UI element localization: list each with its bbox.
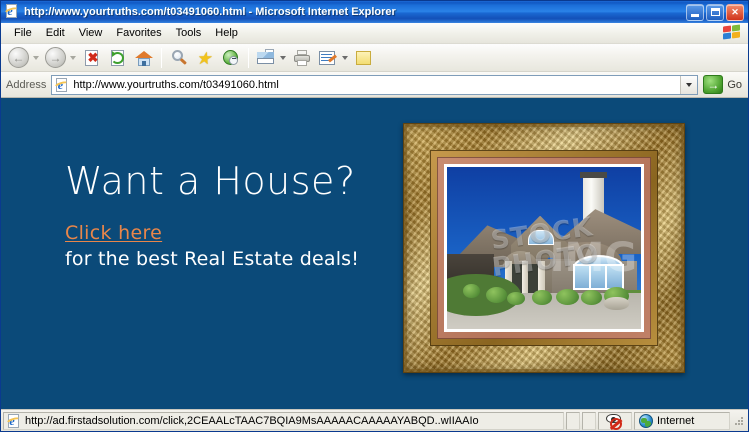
chevron-down-icon	[686, 83, 692, 87]
windows-flag-icon	[722, 24, 744, 42]
house-photograph: IMG STOCK PHOTO	[447, 167, 641, 329]
edit-page-icon	[318, 48, 338, 68]
photo-white-border: IMG STOCK PHOTO	[444, 164, 644, 332]
internet-explorer-icon: e	[54, 78, 69, 92]
browser-window: e http://www.yourtruths.com/t03491060.ht…	[0, 0, 749, 432]
toolbar-separator	[248, 48, 249, 68]
forward-button[interactable]: →	[42, 46, 69, 70]
page-viewport: Want a House? Click here for the best Re…	[1, 98, 748, 409]
forward-dropdown-chevron-icon[interactable]	[70, 56, 76, 60]
search-button[interactable]	[166, 46, 192, 70]
window-mullion	[605, 264, 607, 290]
address-input-value: http://www.yourtruths.com/t03491060.html	[73, 79, 680, 91]
porch-column	[522, 261, 529, 297]
menu-item-favorites[interactable]: Favorites	[109, 25, 168, 41]
address-label: Address	[6, 79, 46, 91]
toolbar-separator	[161, 48, 162, 68]
shrub	[463, 284, 480, 299]
address-dropdown-button[interactable]	[680, 76, 697, 94]
discuss-button[interactable]	[351, 46, 377, 70]
refresh-button[interactable]	[105, 46, 131, 70]
status-cell	[582, 412, 596, 430]
go-button[interactable]: → Go	[703, 75, 745, 94]
edit-button[interactable]	[315, 46, 341, 70]
go-button-label: Go	[727, 79, 742, 91]
search-icon	[169, 48, 189, 68]
status-bar: e http://ad.firstadsolution.com/click,2C…	[1, 409, 748, 431]
menu-item-tools[interactable]: Tools	[169, 25, 209, 41]
status-url-pane: e http://ad.firstadsolution.com/click,2C…	[3, 412, 564, 430]
shrub	[486, 287, 507, 303]
notes-icon	[354, 48, 374, 68]
print-button[interactable]	[289, 46, 315, 70]
ad-subline: for the best Real Estate deals!	[65, 248, 385, 270]
window-title: http://www.yourtruths.com/t03491060.html…	[24, 6, 686, 18]
address-bar: Address e http://www.yourtruths.com/t034…	[1, 72, 748, 98]
address-input[interactable]: e http://www.yourtruths.com/t03491060.ht…	[51, 75, 698, 95]
menu-bar: File Edit View Favorites Tools Help	[1, 23, 748, 44]
shrub	[581, 290, 602, 305]
close-button[interactable]: ✕	[726, 4, 744, 21]
shrub	[507, 292, 524, 305]
menu-item-file[interactable]: File	[7, 25, 39, 41]
stop-button[interactable]: ✖	[79, 46, 105, 70]
advertisement-page[interactable]: Want a House? Click here for the best Re…	[5, 98, 748, 409]
mail-button[interactable]	[253, 46, 279, 70]
shrub	[556, 289, 579, 305]
home-icon	[134, 48, 154, 68]
mail-dropdown-chevron-icon[interactable]	[280, 56, 286, 60]
chimney-cap	[580, 172, 607, 178]
shrub	[532, 290, 551, 305]
internet-zone-globe-icon	[639, 414, 653, 428]
click-here-link[interactable]: Click here	[65, 222, 162, 244]
history-globe-icon	[221, 48, 241, 68]
ornate-gold-frame: IMG STOCK PHOTO	[403, 123, 685, 373]
refresh-icon	[108, 48, 128, 68]
security-zone-label: Internet	[657, 415, 694, 427]
security-zone-cell[interactable]: Internet	[634, 412, 730, 430]
forward-arrow-icon: →	[45, 47, 66, 68]
back-arrow-icon: ←	[8, 47, 29, 68]
edit-dropdown-chevron-icon[interactable]	[342, 56, 348, 60]
toolbar: ← → ✖ ★	[1, 44, 748, 72]
printer-icon	[292, 48, 312, 68]
mail-icon	[256, 48, 276, 68]
status-url-text: http://ad.firstadsolution.com/click,2CEA…	[25, 415, 479, 427]
menu-item-view[interactable]: View	[72, 25, 110, 41]
star-icon: ★	[195, 48, 215, 68]
menu-item-help[interactable]: Help	[208, 25, 245, 41]
home-button[interactable]	[131, 46, 157, 70]
page-title: Want a House?	[65, 162, 385, 200]
frame-inner-bevel: IMG STOCK PHOTO	[430, 150, 658, 346]
privacy-status-cell[interactable]	[598, 412, 632, 430]
ad-text-block: Want a House? Click here for the best Re…	[65, 162, 385, 270]
stop-icon: ✖	[82, 48, 102, 68]
back-dropdown-chevron-icon[interactable]	[33, 56, 39, 60]
back-button[interactable]: ←	[5, 46, 32, 70]
internet-explorer-icon: e	[6, 414, 21, 428]
maximize-button[interactable]	[706, 4, 724, 21]
status-cell	[566, 412, 580, 430]
favorites-button[interactable]: ★	[192, 46, 218, 70]
internet-explorer-icon[interactable]: e	[4, 4, 20, 20]
menu-item-edit[interactable]: Edit	[39, 25, 72, 41]
history-button[interactable]	[218, 46, 244, 70]
resize-grip[interactable]	[732, 414, 746, 428]
decorative-rock	[604, 297, 629, 310]
window-mullion	[589, 264, 591, 290]
title-bar[interactable]: e http://www.yourtruths.com/t03491060.ht…	[1, 1, 748, 23]
photo-mat: IMG STOCK PHOTO	[437, 157, 651, 339]
minimize-button[interactable]	[686, 4, 704, 21]
gable-window	[528, 230, 553, 245]
green-arrow-icon: →	[703, 75, 723, 94]
framed-house-photo[interactable]: IMG STOCK PHOTO	[403, 123, 685, 373]
window-controls: ✕	[686, 4, 746, 21]
privacy-blocked-eye-icon	[605, 413, 625, 428]
